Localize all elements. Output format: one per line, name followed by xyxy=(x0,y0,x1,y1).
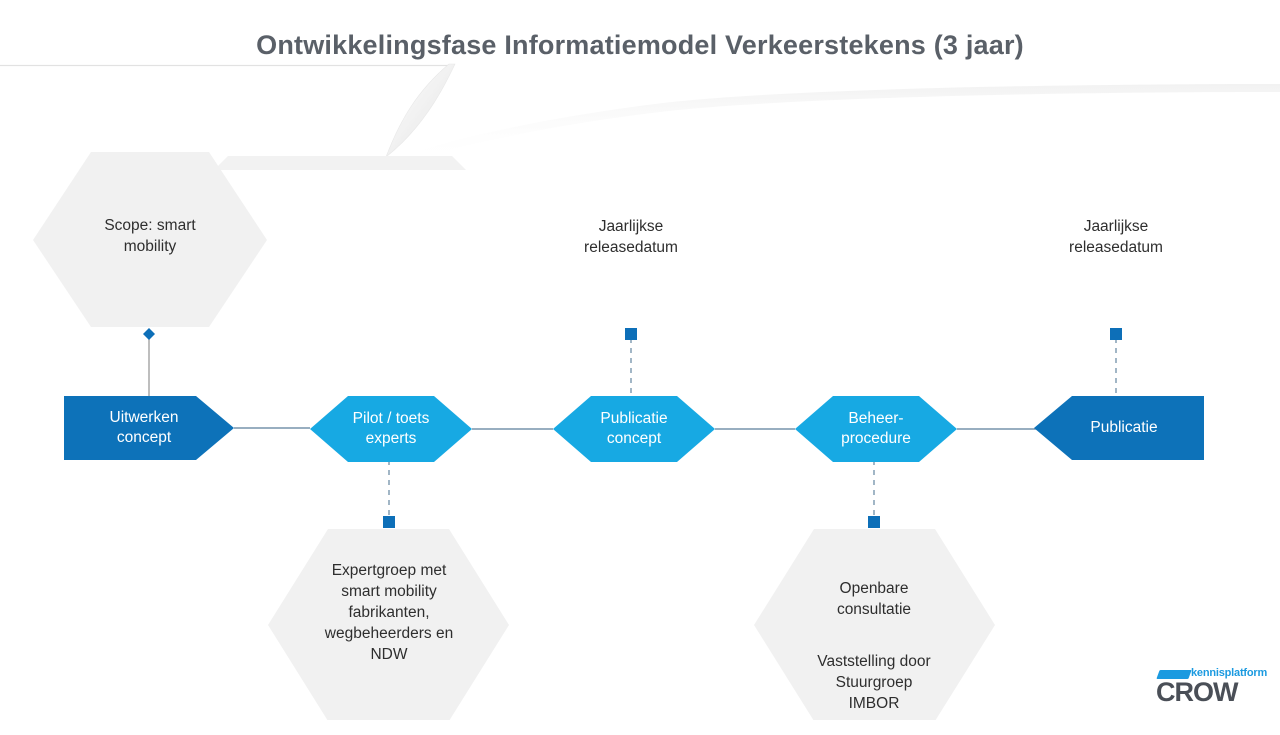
callout-paragraph-openbare: Openbare consultatie xyxy=(784,579,964,621)
crow-wordmark: CROW xyxy=(1156,679,1237,706)
marker-diamond-scope xyxy=(143,328,155,340)
step-shape-beheer-procedure[interactable] xyxy=(795,396,957,462)
step-shape-uitwerken-concept[interactable] xyxy=(64,396,234,460)
callout-text-release-midden: Jaarlijkse releasedatum xyxy=(541,217,721,259)
callout-text-scope: Scope: smart mobility xyxy=(60,216,240,258)
slide-canvas: Ontwikkelingsfase Informatiemodel Verkee… xyxy=(0,0,1280,720)
crow-logo: kennisplatform CROW xyxy=(1156,668,1268,710)
marker-square-release-rechts xyxy=(1110,328,1122,340)
callout-text-expertgroep: Expertgroep met smart mobility fabrikant… xyxy=(299,561,479,666)
callout-text-release-rechts: Jaarlijkse releasedatum xyxy=(1026,217,1206,259)
step-shape-publicatie-concept[interactable] xyxy=(553,396,715,462)
step-shape-pilot-toets-experts[interactable] xyxy=(310,396,472,462)
process-diagram xyxy=(0,0,1280,720)
callout-text-consultatie: Openbare consultatie Vaststelling door S… xyxy=(784,558,964,735)
marker-square-expertgroep xyxy=(383,516,395,528)
marker-square-consultatie xyxy=(868,516,880,528)
callout-paragraph-vaststelling: Vaststelling door Stuurgroep IMBOR xyxy=(784,652,964,715)
step-shape-publicatie[interactable] xyxy=(1034,396,1204,460)
marker-square-release-midden xyxy=(625,328,637,340)
